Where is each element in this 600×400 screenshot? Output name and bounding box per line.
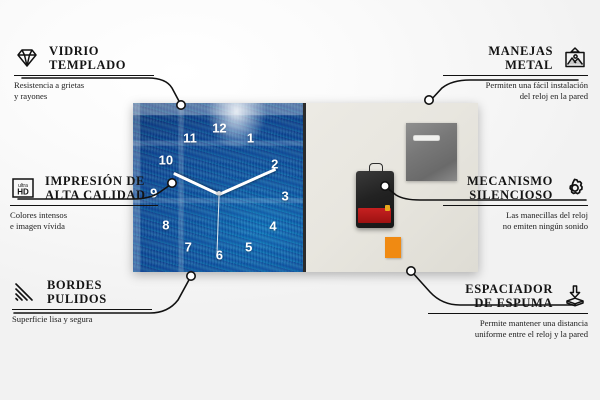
- feature-subtitle: Resistencia a grietas y rayones: [14, 80, 154, 101]
- clock-numeral-4: 4: [269, 220, 276, 233]
- clock-front-face: 12 1 2 3 4 5 6 7 8 9 10 11: [133, 103, 306, 272]
- clock-numeral-3: 3: [281, 189, 288, 202]
- clock-numeral-10: 10: [159, 154, 173, 167]
- feature-subtitle: Superficie lisa y segura: [12, 314, 152, 325]
- ultra-hd-icon: ultra HD: [10, 176, 36, 200]
- feature-subtitle: Las manecillas del reloj no emiten ningú…: [443, 210, 588, 231]
- clock-numeral-11: 11: [183, 132, 197, 145]
- clock-numeral-5: 5: [245, 240, 252, 253]
- divider: [14, 75, 154, 76]
- clock-numeral-1: 1: [247, 132, 254, 145]
- feature-bordes-pulidos[interactable]: BORDES PULIDOS Superficie lisa y segura: [12, 278, 152, 325]
- feature-espaciador-de-espuma[interactable]: ESPACIADOR DE ESPUMA Permite mantener un…: [428, 282, 588, 339]
- clock-numeral-8: 8: [162, 218, 169, 231]
- feature-subtitle: Colores intensos e imagen vívida: [10, 210, 158, 231]
- foam-spacer-icon: [562, 284, 588, 308]
- feature-title: MECANISMO SILENCIOSO: [467, 174, 553, 202]
- clock-second-hand: [217, 193, 220, 252]
- foam-spacer: [385, 237, 400, 259]
- mechanism-hanger-loop: [369, 163, 383, 172]
- divider: [10, 205, 158, 206]
- divider: [12, 309, 152, 310]
- product-photo: 12 1 2 3 4 5 6 7 8 9 10 11: [133, 103, 478, 272]
- clock-minute-hand: [219, 167, 277, 195]
- gear-icon: [562, 176, 588, 200]
- feature-title: BORDES PULIDOS: [47, 278, 107, 306]
- feature-subtitle: Permite mantener una distancia uniforme …: [428, 318, 588, 339]
- polished-edge-icon: [12, 280, 38, 304]
- feature-vidrio-templado[interactable]: VIDRIO TEMPLADO Resistencia a grietas y …: [14, 44, 154, 101]
- divider: [443, 205, 588, 206]
- clock-numeral-12: 12: [212, 122, 226, 135]
- feature-mecanismo-silencioso[interactable]: MECANISMO SILENCIOSO Las manecillas del …: [443, 174, 588, 231]
- infographic-canvas: 12 1 2 3 4 5 6 7 8 9 10 11: [0, 0, 600, 400]
- feature-title: ESPACIADOR DE ESPUMA: [465, 282, 553, 310]
- svg-text:HD: HD: [17, 188, 29, 197]
- feature-manejas-metal[interactable]: MANEJAS METAL Permiten una fácil instala…: [443, 44, 588, 101]
- connector-dot-bordes: [187, 272, 195, 280]
- battery: [358, 208, 391, 223]
- clock-numeral-7: 7: [185, 240, 192, 253]
- clock-center-pivot: [217, 191, 221, 195]
- metal-hanger-plate: [406, 123, 458, 180]
- divider: [428, 313, 588, 314]
- clock-mechanism: [356, 171, 394, 228]
- clock-hour-hand: [173, 172, 220, 196]
- diamond-icon: [14, 46, 40, 70]
- feature-title: VIDRIO TEMPLADO: [49, 44, 126, 72]
- feature-title: MANEJAS METAL: [488, 44, 553, 72]
- divider: [443, 75, 588, 76]
- feature-subtitle: Permiten una fácil instalación del reloj…: [443, 80, 588, 101]
- feature-impresion-alta-calidad[interactable]: ultra HD IMPRESIÓN DE ALTA CALIDAD Color…: [10, 174, 158, 231]
- feature-title: IMPRESIÓN DE ALTA CALIDAD: [45, 174, 146, 202]
- picture-hanger-icon: [562, 46, 588, 70]
